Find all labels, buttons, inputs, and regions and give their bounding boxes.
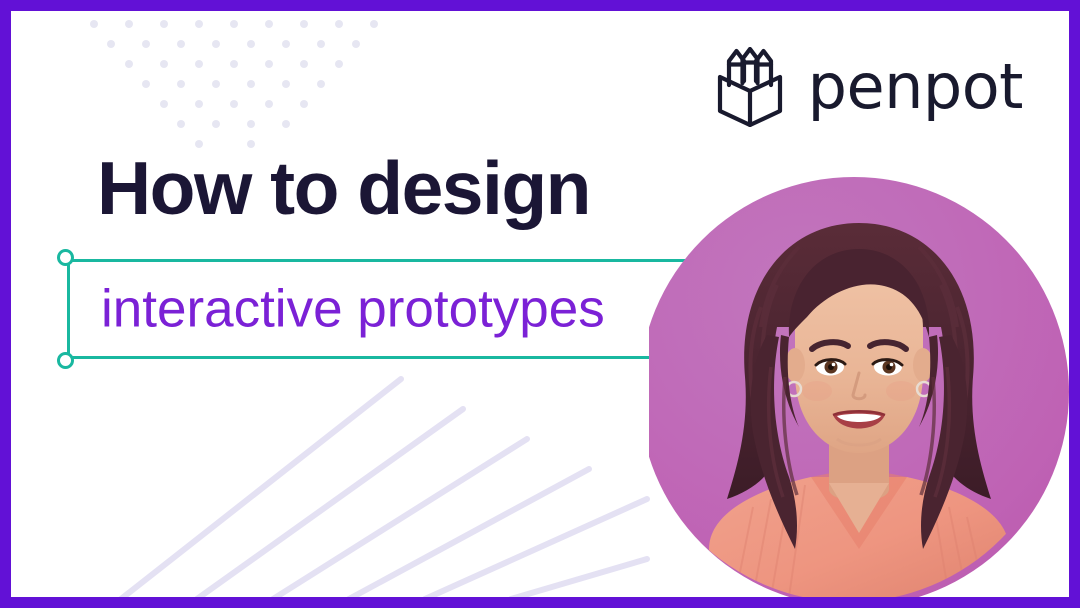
slide-canvas: penpot How to design interactive prototy…	[11, 11, 1069, 597]
presenter-portrait	[649, 177, 1069, 597]
diagonal-lines-decoration	[11, 341, 651, 597]
slide-frame: penpot How to design interactive prototy…	[0, 0, 1080, 608]
subtitle-text: interactive prototypes	[101, 283, 605, 336]
presenter-photo	[649, 177, 1069, 597]
selection-box[interactable]: interactive prototypes	[67, 259, 739, 359]
page-title: How to design	[97, 151, 590, 226]
selection-handle-bottom-left[interactable]	[57, 352, 74, 369]
penpot-logo[interactable]: penpot	[714, 47, 1023, 127]
penpot-pencil-cup-icon	[714, 47, 786, 127]
dot-triangle-decoration	[86, 16, 386, 151]
penpot-wordmark: penpot	[808, 56, 1023, 118]
selection-handle-top-left[interactable]	[57, 249, 74, 266]
